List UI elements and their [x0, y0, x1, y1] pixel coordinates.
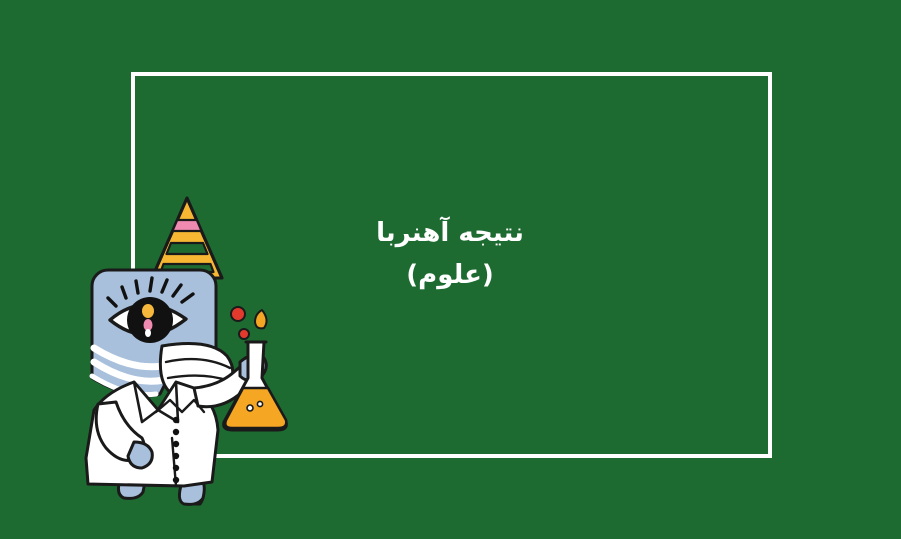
slide-canvas: نتیجه آهنربا (علوم)	[0, 0, 901, 539]
title-line-1: نتیجه آهنربا	[280, 212, 620, 254]
mascot-svg	[72, 186, 312, 516]
title-line-2: (علوم)	[280, 254, 620, 296]
cyclops-scientist-character	[72, 186, 312, 516]
page-title: نتیجه آهنربا (علوم)	[280, 212, 620, 296]
bubbles	[231, 307, 267, 339]
party-hat-icon	[152, 198, 222, 278]
